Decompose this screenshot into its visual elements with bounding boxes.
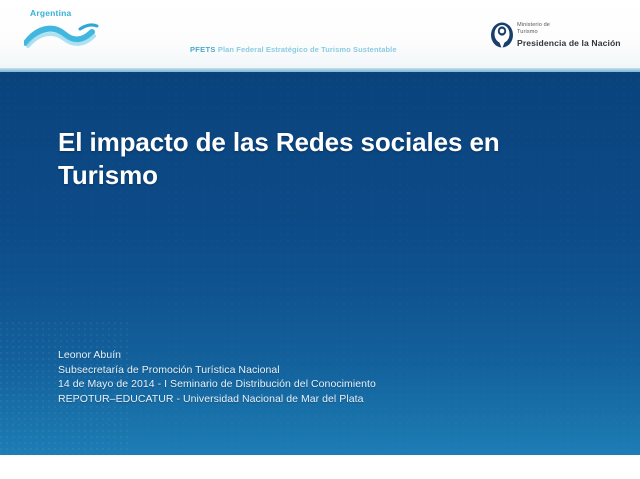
- presenter-info-block: Leonor Abuín Subsecretaría de Promoción …: [58, 348, 538, 406]
- page-footer-area: [0, 455, 640, 479]
- argentina-sun-shield-icon: [490, 22, 514, 54]
- ministry-line-1: Ministerio de: [517, 22, 621, 29]
- slide-title: El impacto de las Redes sociales en Turi…: [58, 126, 578, 192]
- slide-body: El impacto de las Redes sociales en Turi…: [0, 72, 640, 455]
- pfets-tagline: PFETS Plan Federal Estratégico de Turism…: [190, 45, 397, 54]
- presentation-slide: Argentina PFETS Plan Federal Estratégico…: [0, 0, 640, 479]
- argentina-brand-logo: Argentina: [24, 8, 104, 58]
- presenter-name: Leonor Abuín: [58, 348, 538, 363]
- ministry-text-block: Ministerio de Turismo Presidencia de la …: [517, 22, 621, 48]
- pfets-full-text: Plan Federal Estratégico de Turismo Sust…: [218, 45, 397, 54]
- presenter-role: Subsecretaría de Promoción Turística Nac…: [58, 363, 538, 378]
- ministry-logo: Ministerio de Turismo Presidencia de la …: [490, 20, 630, 60]
- ministry-line-2: Turismo: [517, 29, 621, 36]
- slide-header: Argentina PFETS Plan Federal Estratégico…: [0, 0, 640, 72]
- wave-swoosh-icon: [24, 19, 102, 53]
- event-venue: REPOTUR–EDUCATUR - Universidad Nacional …: [58, 392, 538, 407]
- ministry-line-3: Presidencia de la Nación: [517, 38, 621, 48]
- argentina-wordmark: Argentina: [30, 8, 71, 18]
- event-date-and-name: 14 de Mayo de 2014 - I Seminario de Dist…: [58, 377, 538, 392]
- pfets-acronym: PFETS: [190, 45, 216, 54]
